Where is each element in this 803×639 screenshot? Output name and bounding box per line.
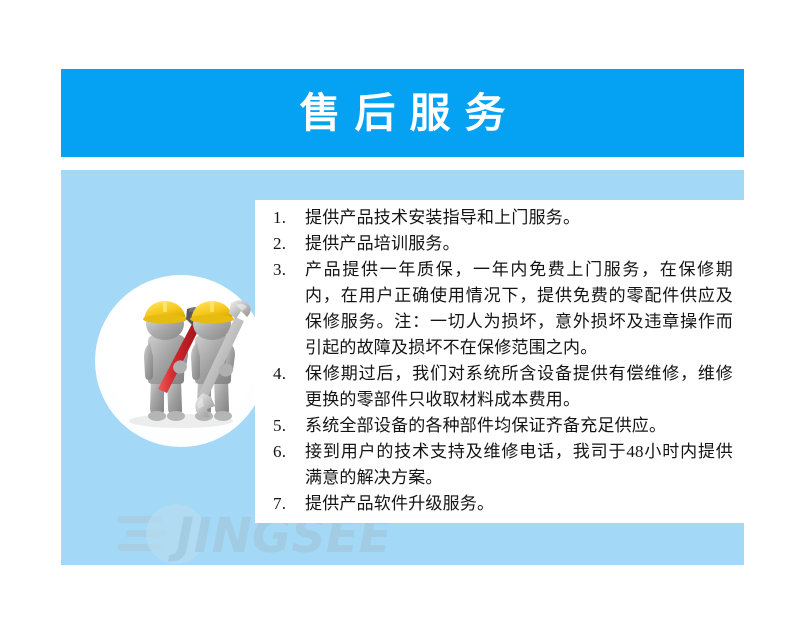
list-item-number: 2. (273, 231, 299, 257)
list-item-text: 提供产品技术安装指导和上门服务。 (305, 205, 733, 231)
list-item: 2. 提供产品培训服务。 (273, 231, 733, 257)
list-item: 3. 产品提供一年质保，一年内免费上门服务，在保修期内，在用户正确使用情况下，提… (273, 257, 733, 361)
service-list: 1. 提供产品技术安装指导和上门服务。 2. 提供产品培训服务。 3. 产品提供… (273, 205, 733, 517)
service-list-panel: 1. 提供产品技术安装指导和上门服务。 2. 提供产品培训服务。 3. 产品提供… (255, 200, 744, 523)
content-card: JINGSEE 1. 提供产品技术安装指导和上门服务。 2. 提供产品培训服务。… (61, 170, 744, 565)
list-item-text: 保修期过后，我们对系统所含设备提供有偿维修，维修更换的零部件只收取材料成本费用。 (305, 361, 733, 413)
list-item-text: 产品提供一年质保，一年内免费上门服务，在保修期内，在用户正确使用情况下，提供免费… (305, 257, 733, 361)
list-item-number: 6. (273, 439, 299, 465)
list-item-text: 系统全部设备的各种部件均保证齐备充足供应。 (305, 413, 733, 439)
list-item-text: 提供产品培训服务。 (305, 231, 733, 257)
illustration-two-workers (95, 275, 267, 447)
list-item: 4. 保修期过后，我们对系统所含设备提供有偿维修，维修更换的零部件只收取材料成本… (273, 361, 733, 413)
list-item-number: 4. (273, 361, 299, 387)
list-item: 6. 接到用户的技术支持及维修电话，我司于48小时内提供满意的解决方案。 (273, 439, 733, 491)
list-item: 7. 提供产品软件升级服务。 (273, 491, 733, 517)
page-title: 售后服务 (286, 93, 520, 134)
list-item-text: 提供产品软件升级服务。 (305, 491, 733, 517)
poster-page: 售后服务 (0, 0, 803, 639)
list-item-text: 接到用户的技术支持及维修电话，我司于48小时内提供满意的解决方案。 (305, 439, 733, 491)
list-item-number: 7. (273, 491, 299, 517)
title-banner: 售后服务 (61, 69, 744, 157)
list-item-number: 1. (273, 205, 299, 231)
list-item-number: 3. (273, 257, 299, 283)
list-item-number: 5. (273, 413, 299, 439)
workers-icon (95, 275, 267, 447)
list-item: 1. 提供产品技术安装指导和上门服务。 (273, 205, 733, 231)
list-item: 5. 系统全部设备的各种部件均保证齐备充足供应。 (273, 413, 733, 439)
